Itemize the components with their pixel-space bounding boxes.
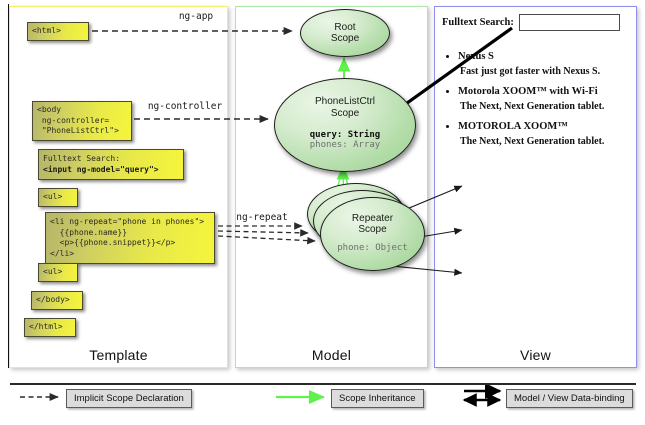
code-search-line1: Fulltext Search: [43,154,120,163]
root-scope-ellipse: RootScope [300,9,390,57]
view-panel-title: View [435,347,636,363]
list-item: MOTOROLA XOOM™ The Next, Next Generation… [458,121,630,147]
phonelistctrl-scope-ellipse: PhoneListCtrlScope query: String phones:… [274,78,416,172]
code-box-html-open: <html> [27,22,89,41]
phone-snippet: The Next, Next Generation tablet. [460,101,630,112]
template-panel: Template [9,6,228,368]
phone-name: Motorola XOOM™ with Wi-Fi [458,86,598,97]
phonelist-scope-prop-phones: phones: Array [310,140,380,150]
view-search-row: Fulltext Search: [442,14,630,31]
code-search-line2: <input ng-model="query"> [43,165,159,174]
diagram-canvas: Template Model View <html> <body ng-cont… [0,0,645,425]
phonelist-scope-prop-query: query: String [310,130,380,140]
repeater-scope-line2: Scope [358,224,386,235]
code-box-html-close: </html> [24,318,76,337]
list-item: Motorola XOOM™ with Wi-Fi The Next, Next… [458,86,630,112]
legend-divider [10,383,636,385]
code-li-line2: {{phone.name}} [50,228,127,237]
view-content: Fulltext Search: Nexus S Fast just got f… [442,14,630,156]
phone-snippet: The Next, Next Generation tablet. [460,136,630,147]
phonelist-scope-line1: PhoneListCtrl [315,96,375,107]
code-box-li-repeat: <li ng-repeat="phone in phones"> {{phone… [45,212,215,264]
phonelist-scope-line2: Scope [331,108,359,119]
code-li-line3: <p>{{phone.snippet}}</p> [50,238,175,247]
code-box-body-open: <body ng-controller= "PhoneListCtrl"> [32,101,132,141]
list-item: Nexus S Fast just got faster with Nexus … [458,51,630,77]
repeater-scope-line1: Repeater [352,213,393,224]
code-box-ul-close: <ul> [38,263,78,282]
legend-model-view-databinding: Model / View Data-binding [506,389,633,408]
code-box-search: Fulltext Search:<input ng-model="query"> [38,149,184,180]
fulltext-search-input[interactable] [519,14,620,31]
code-box-ul-open: <ul> [38,188,78,207]
phone-name: Nexus S [458,51,494,62]
model-panel-title: Model [236,347,427,363]
view-phone-list: Nexus S Fast just got faster with Nexus … [442,51,630,147]
legend-implicit-scope-declaration: Implicit Scope Declaration [66,389,192,408]
phone-name: MOTOROLA XOOM™ [458,121,568,132]
root-scope-line2: Scope [331,33,359,44]
phone-snippet: Fast just got faster with Nexus S. [460,66,630,77]
template-panel-title: Template [10,347,227,363]
repeater-scope-ellipse: RepeaterScope phone: Object [320,197,425,271]
legend-scope-inheritance: Scope Inheritance [331,389,424,408]
code-li-line1: <li ng-repeat="phone in phones"> [50,217,204,226]
view-search-label: Fulltext Search: [442,17,514,28]
code-li-line4: </li> [50,249,74,258]
repeater-scope-prop-phone: phone: Object [337,243,407,253]
legend-glyph-databinding [464,391,500,400]
root-scope-line1: Root [334,22,355,33]
code-box-body-close: </body> [31,291,83,310]
